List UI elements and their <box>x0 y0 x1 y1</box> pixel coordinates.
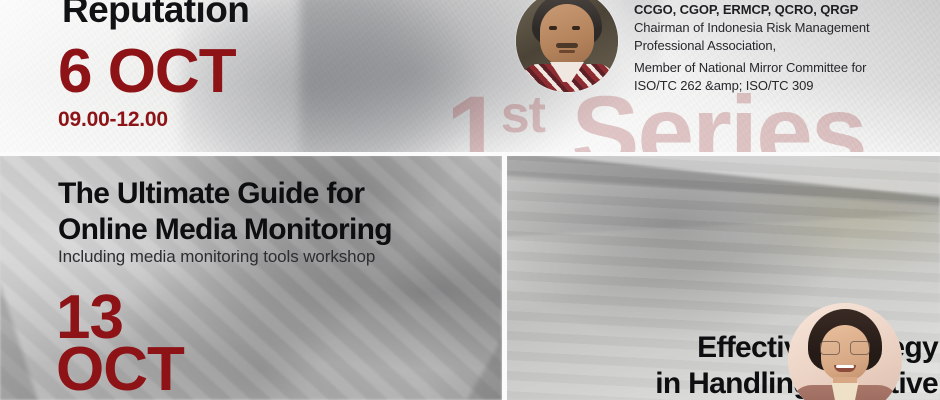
session-two-month: OCT <box>56 340 184 400</box>
session-two-title-line-2: Online Media Monitoring <box>58 212 488 248</box>
speaker-one-details: CCGO, CGOP, ERMCP, QCRO, QRGP Chairman o… <box>634 0 934 94</box>
session-three-panel: 3 Effective Strategy in Handling Negativ… <box>506 155 940 400</box>
speaker-photo-male <box>516 0 618 92</box>
speaker-one-role-line-3: Member of National Mirror Committee for <box>634 60 934 76</box>
session-one-panel: 1st Series Reputation 6 OCT 09.00-12.00 … <box>0 0 940 152</box>
session-one-time: 09.00-12.00 <box>58 109 168 131</box>
webinar-poster: 1st Series Reputation 6 OCT 09.00-12.00 … <box>0 0 940 400</box>
speaker-one-name <box>634 0 934 1</box>
session-two-subtitle: Including media monitoring tools worksho… <box>58 247 375 267</box>
speaker-photo-female <box>788 303 902 400</box>
panel-divider-vertical <box>502 152 507 400</box>
speaker-one-certifications: CCGO, CGOP, ERMCP, QCRO, QRGP <box>634 2 934 18</box>
session-one-title: Reputation <box>62 0 249 30</box>
session-one-date: 6 OCT <box>58 41 236 103</box>
session-two-title: The Ultimate Guide for Online Media Moni… <box>58 176 488 248</box>
speaker-one-role-line-1: Chairman of Indonesia Risk Management <box>634 20 934 36</box>
panel-divider-horizontal <box>0 152 940 156</box>
speaker-one-role-line-4: ISO/TC 262 &amp; ISO/TC 309 <box>634 78 934 94</box>
session-two-title-line-1: The Ultimate Guide for <box>58 176 488 212</box>
speaker-one-role-line-2: Professional Association, <box>634 38 934 54</box>
